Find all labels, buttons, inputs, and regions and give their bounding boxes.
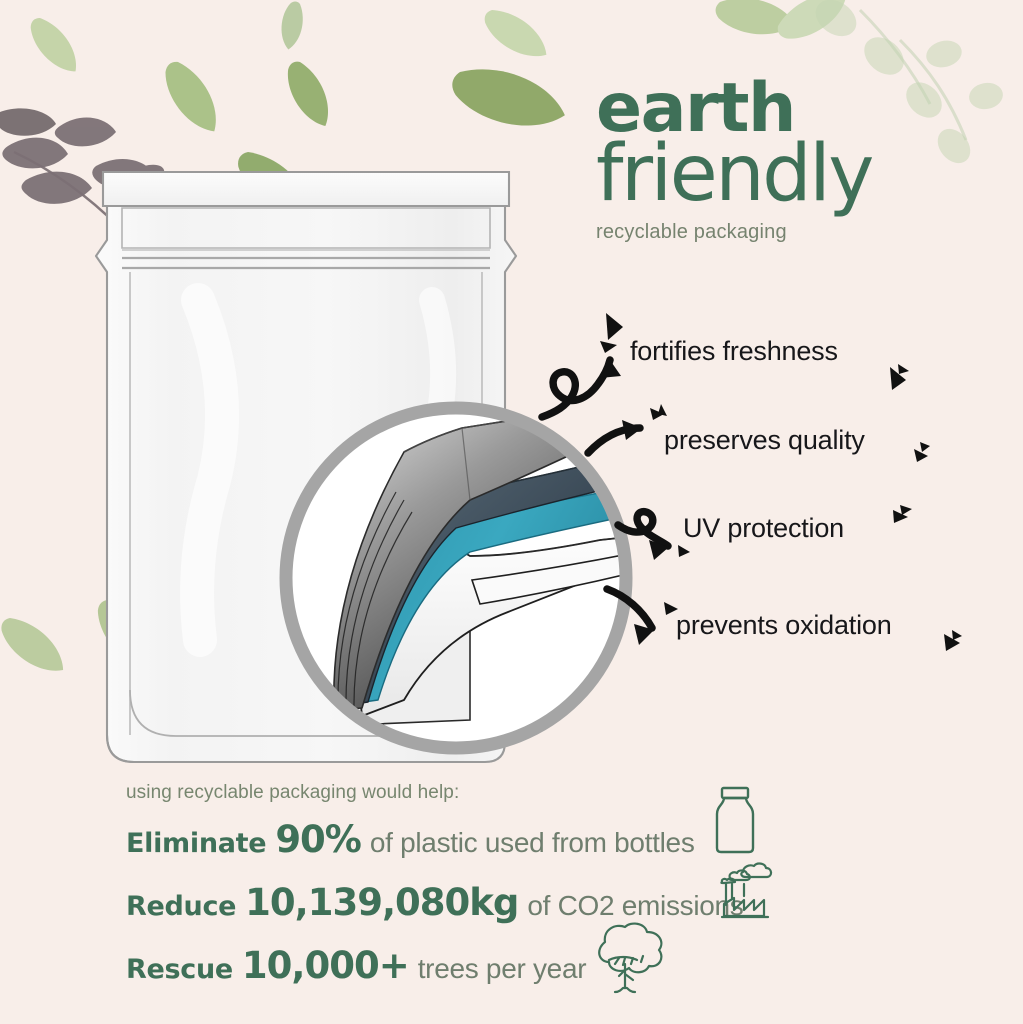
feature-label-uv-protection: UV protection xyxy=(683,513,844,544)
feature-label-preserves-quality: preserves quality xyxy=(664,425,865,456)
stat-verb: Eliminate xyxy=(126,828,266,859)
headline-block: earth friendly recyclable packaging xyxy=(596,78,996,244)
feature-label-fortifies-freshness: fortifies freshness xyxy=(630,336,838,367)
stat-tail: of plastic used from bottles xyxy=(370,827,695,859)
headline-line-2: friendly xyxy=(596,137,996,211)
stat-value: 10,139,080kg xyxy=(245,881,518,924)
stat-row-rescue: Rescue 10,000+ trees per year xyxy=(126,944,826,987)
factory-icon xyxy=(716,860,776,922)
stat-value: 90% xyxy=(275,818,361,861)
stat-tail: of CO2 emissions xyxy=(527,890,743,922)
bottle-icon xyxy=(707,784,763,856)
stat-value: 10,000+ xyxy=(242,944,409,987)
tree-icon xyxy=(575,920,671,998)
stat-verb: Rescue xyxy=(126,954,233,985)
feature-label-prevents-oxidation: prevents oxidation xyxy=(676,610,892,641)
stat-tail: trees per year xyxy=(418,953,587,985)
stat-verb: Reduce xyxy=(126,891,236,922)
headline-subtitle: recyclable packaging xyxy=(596,221,996,244)
infographic-canvas: earth friendly recyclable packaging fort… xyxy=(0,0,1023,1024)
